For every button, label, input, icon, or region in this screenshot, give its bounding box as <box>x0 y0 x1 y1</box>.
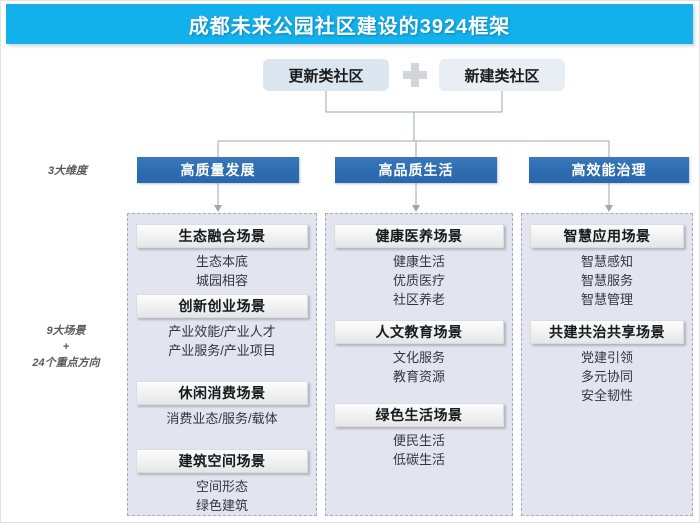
scene-item: 文化服务 <box>334 348 504 367</box>
scene-item-list: 生态本底城园相容 <box>136 252 308 290</box>
scene-item: 空间形态 <box>136 477 308 496</box>
dimension-bar-2: 高效能治理 <box>529 157 689 183</box>
scene-title: 智慧应用场景 <box>530 224 684 248</box>
scene-item: 便民生活 <box>334 431 504 450</box>
title-bar: 成都未来公园社区建设的3924框架 <box>6 4 693 44</box>
side-label-scenes-line1: 9大场景 <box>7 323 125 339</box>
side-label-dimensions-text: 3大维度 <box>15 163 120 179</box>
scene-card: 建筑空间场景空间形态绿色建筑 <box>136 449 308 515</box>
scene-card: 智慧应用场景智慧感知智慧服务智慧管理 <box>530 224 684 309</box>
scene-item: 绿色建筑 <box>136 496 308 515</box>
scene-item: 智慧感知 <box>530 252 684 271</box>
dimension-bar-0: 高质量发展 <box>137 157 299 183</box>
scene-title: 人文教育场景 <box>334 320 504 344</box>
scene-item-list: 产业效能/产业人才产业服务/产业项目 <box>136 322 308 360</box>
scene-item: 社区养老 <box>334 290 504 309</box>
scene-item: 健康生活 <box>334 252 504 271</box>
scene-item: 优质医疗 <box>334 271 504 290</box>
scene-card: 生态融合场景生态本底城园相容 <box>136 224 308 290</box>
scene-title: 共建共治共享场景 <box>530 320 684 344</box>
scene-item: 党建引领 <box>530 348 684 367</box>
scene-item-list: 便民生活低碳生活 <box>334 431 504 469</box>
scene-card: 绿色生活场景便民生活低碳生活 <box>334 403 504 469</box>
scene-item-list: 健康生活优质医疗社区养老 <box>334 252 504 309</box>
scene-item: 生态本底 <box>136 252 308 271</box>
scene-item: 多元协同 <box>530 367 684 386</box>
dimension-bar-0-label: 高质量发展 <box>181 160 256 180</box>
dimension-bar-1-label: 高品质生活 <box>379 160 454 180</box>
scene-item: 产业效能/产业人才 <box>136 322 308 341</box>
scene-item: 智慧管理 <box>530 290 684 309</box>
scene-title: 健康医养场景 <box>334 224 504 248</box>
scene-title: 生态融合场景 <box>136 224 308 248</box>
scene-card: 创新创业场景产业效能/产业人才产业服务/产业项目 <box>136 294 308 360</box>
scene-item: 安全韧性 <box>530 386 684 405</box>
scene-column-1: 健康医养场景健康生活优质医疗社区养老人文教育场景文化服务教育资源绿色生活场景便民… <box>325 213 513 516</box>
scene-card: 休闲消费场景消费业态/服务/载体 <box>136 381 308 428</box>
scene-item-list: 党建引领多元协同安全韧性 <box>530 348 684 405</box>
scene-column-2: 智慧应用场景智慧感知智慧服务智慧管理共建共治共享场景党建引领多元协同安全韧性 <box>521 213 693 516</box>
scene-card: 健康医养场景健康生活优质医疗社区养老 <box>334 224 504 309</box>
side-label-scenes: 9大场景 + 24个重点方向 <box>7 323 125 371</box>
side-label-scenes-line3: 24个重点方向 <box>7 355 125 371</box>
dimension-bar-1: 高品质生活 <box>335 157 497 183</box>
scene-title: 建筑空间场景 <box>136 449 308 473</box>
scene-item: 教育资源 <box>334 367 504 386</box>
side-label-scenes-line2: + <box>7 339 125 355</box>
scene-item-list: 文化服务教育资源 <box>334 348 504 386</box>
node-update-community: 更新类社区 <box>263 59 389 91</box>
framework-diagram: 成都未来公园社区建设的3924框架 更新类社区 新建类社区 3大维度 9大场景 … <box>0 0 700 523</box>
node-new-community: 新建类社区 <box>439 59 565 91</box>
side-label-dimensions: 3大维度 <box>15 163 120 179</box>
scene-item: 城园相容 <box>136 271 308 290</box>
scene-item-list: 智慧感知智慧服务智慧管理 <box>530 252 684 309</box>
plus-icon <box>403 63 427 87</box>
node-update-community-label: 更新类社区 <box>288 65 363 86</box>
scene-item: 智慧服务 <box>530 271 684 290</box>
scene-card: 人文教育场景文化服务教育资源 <box>334 320 504 386</box>
node-new-community-label: 新建类社区 <box>464 65 539 86</box>
scene-item: 消费业态/服务/载体 <box>136 409 308 428</box>
scene-item: 低碳生活 <box>334 450 504 469</box>
scene-column-0: 生态融合场景生态本底城园相容创新创业场景产业效能/产业人才产业服务/产业项目休闲… <box>127 213 317 516</box>
dimension-bar-2-label: 高效能治理 <box>572 160 647 180</box>
scene-title: 绿色生活场景 <box>334 403 504 427</box>
scene-title: 创新创业场景 <box>136 294 308 318</box>
scene-item-list: 消费业态/服务/载体 <box>136 409 308 428</box>
scene-item-list: 空间形态绿色建筑 <box>136 477 308 515</box>
scene-item: 产业服务/产业项目 <box>136 341 308 360</box>
scene-title: 休闲消费场景 <box>136 381 308 405</box>
scene-card: 共建共治共享场景党建引领多元协同安全韧性 <box>530 320 684 405</box>
page-title: 成都未来公园社区建设的3924框架 <box>6 4 693 44</box>
